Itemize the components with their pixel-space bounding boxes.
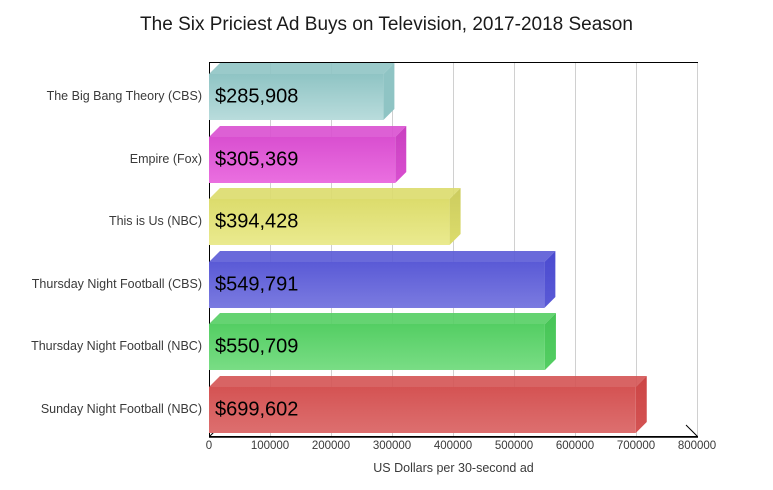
x-tick-label: 300000 [373,440,411,452]
x-tick-label: 100000 [251,440,289,452]
bar-value-label: $394,428 [215,211,298,234]
x-tick-label: 200000 [312,440,350,452]
bar[interactable]: $549,791 [209,251,557,310]
x-tick-label: 700000 [617,440,655,452]
bar[interactable]: $285,908 [209,63,396,122]
category-label: Empire (Fox) [0,152,202,166]
bar[interactable]: $550,709 [209,313,558,372]
bar-value-label: $305,369 [215,148,298,171]
x-axis-ticks: 0100000200000300000400000500000600000700… [0,440,773,460]
category-label: The Big Bang Theory (CBS) [0,89,202,103]
category-label: Thursday Night Football (CBS) [0,277,202,291]
x-tick-label: 500000 [495,440,533,452]
bar-value-label: $699,602 [215,398,298,421]
bar-value-label: $549,791 [215,273,298,296]
bar[interactable]: $305,369 [209,126,408,185]
bar[interactable]: $699,602 [209,376,649,435]
category-label: Thursday Night Football (NBC) [0,339,202,353]
category-label: Sunday Night Football (NBC) [0,402,202,416]
category-label: This is Us (NBC) [0,214,202,228]
bar-chart: The Six Priciest Ad Buys on Television, … [0,0,773,490]
x-tick-label: 600000 [556,440,594,452]
x-tick-label: 0 [206,440,212,452]
bar-rows: The Big Bang Theory (CBS)$285,908Empire … [0,0,773,490]
bar-value-label: $285,908 [215,86,298,109]
x-tick-label: 400000 [434,440,472,452]
bar-value-label: $550,709 [215,336,298,359]
x-tick-label: 800000 [678,440,716,452]
bar[interactable]: $394,428 [209,188,463,247]
x-axis-title: US Dollars per 30-second ad [209,461,698,475]
